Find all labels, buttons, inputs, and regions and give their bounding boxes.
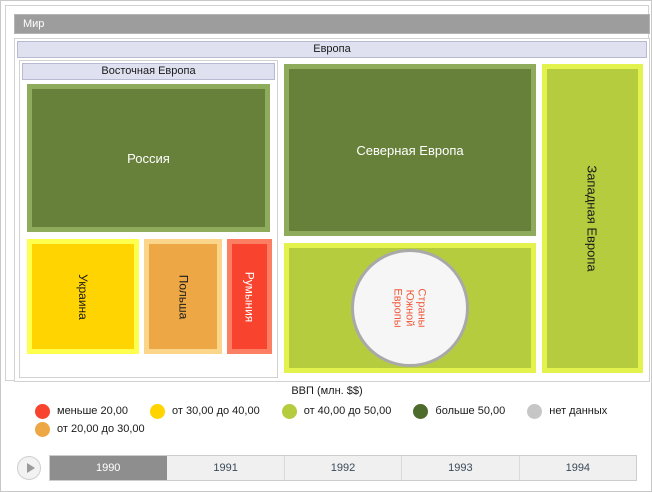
legend-title: ВВП (млн. $$) [5,385,649,397]
treemap-panel: Мир Европа Восточная Европа Россия Украи… [5,5,649,381]
legend-swatch-icon [527,404,542,419]
application-window: Мир Европа Восточная Европа Россия Украи… [0,0,652,492]
legend-label: от 30,00 до 40,00 [172,405,260,417]
tile-fill [32,89,265,227]
timeline-tick-1993[interactable]: 1993 [402,456,519,480]
treemap-tile-romania[interactable]: Румыния [227,239,272,354]
circle-label-line-3: Европы [392,288,404,327]
legend-items: меньше 20,00 от 30,00 до 40,00 от 40,00 … [5,402,649,438]
eastern-europe-header-bar[interactable]: Восточная Европа [22,63,275,80]
treemap-tile-southern-europe[interactable]: Страны Южной Европы [284,243,536,373]
legend-label: больше 50,00 [435,405,505,417]
legend-swatch-icon [413,404,428,419]
play-triangle-icon [27,463,35,473]
legend-label: от 20,00 до 30,00 [57,423,145,435]
timeline-tick-1990[interactable]: 1990 [50,456,167,480]
southern-europe-circle-marker[interactable]: Страны Южной Европы [351,249,469,367]
legend-item-no-data[interactable]: нет данных [527,402,607,420]
timeline-track[interactable]: 1990 1991 1992 1993 1994 [49,455,637,481]
europe-region-container: Европа Восточная Европа Россия Украина [14,38,650,382]
circle-label-line-1: Страны [416,288,428,327]
treemap-tile-ukraine[interactable]: Украина [27,239,139,354]
legend-item-more-than-50[interactable]: больше 50,00 [413,402,505,420]
legend-label: меньше 20,00 [57,405,128,417]
tile-fill [547,69,638,368]
treemap-tile-northern-europe[interactable]: Северная Европа [284,64,536,236]
play-icon[interactable] [17,456,41,480]
timeline-tick-1992[interactable]: 1992 [285,456,402,480]
timeline-control: 1990 1991 1992 1993 1994 [5,447,649,489]
treemap-tile-russia[interactable]: Россия [27,84,270,232]
eastern-europe-label: Восточная Европа [101,65,195,77]
tile-fill [149,244,217,349]
eastern-europe-region: Восточная Европа Россия Украина Польша Р [19,60,278,378]
europe-label: Европа [313,43,351,55]
legend-swatch-icon [35,404,50,419]
treemap-tile-western-europe[interactable]: Западная Европа [542,64,643,373]
world-label: Мир [23,18,44,30]
legend-label: нет данных [549,405,607,417]
legend-item-30-to-40[interactable]: от 30,00 до 40,00 [150,402,260,420]
legend-label: от 40,00 до 50,00 [304,405,392,417]
legend-item-40-to-50[interactable]: от 40,00 до 50,00 [282,402,392,420]
world-header-bar[interactable]: Мир [14,14,650,34]
circle-label-line-2: Южной [404,288,416,327]
timeline-tick-1994[interactable]: 1994 [520,456,636,480]
legend-swatch-icon [150,404,165,419]
legend-swatch-icon [282,404,297,419]
treemap-tile-poland[interactable]: Польша [144,239,222,354]
legend-swatch-icon [35,422,50,437]
tile-fill [289,69,531,231]
timeline-tick-1991[interactable]: 1991 [167,456,284,480]
legend-item-less-than-20[interactable]: меньше 20,00 [35,402,128,420]
tile-fill [32,244,134,349]
legend-item-20-to-30[interactable]: от 20,00 до 30,00 [35,420,649,438]
southern-europe-circle-label: Страны Южной Европы [392,288,428,327]
europe-header-bar[interactable]: Европа [17,41,647,58]
legend: ВВП (млн. $$) меньше 20,00 от 30,00 до 4… [5,383,649,441]
tile-fill [232,244,267,349]
